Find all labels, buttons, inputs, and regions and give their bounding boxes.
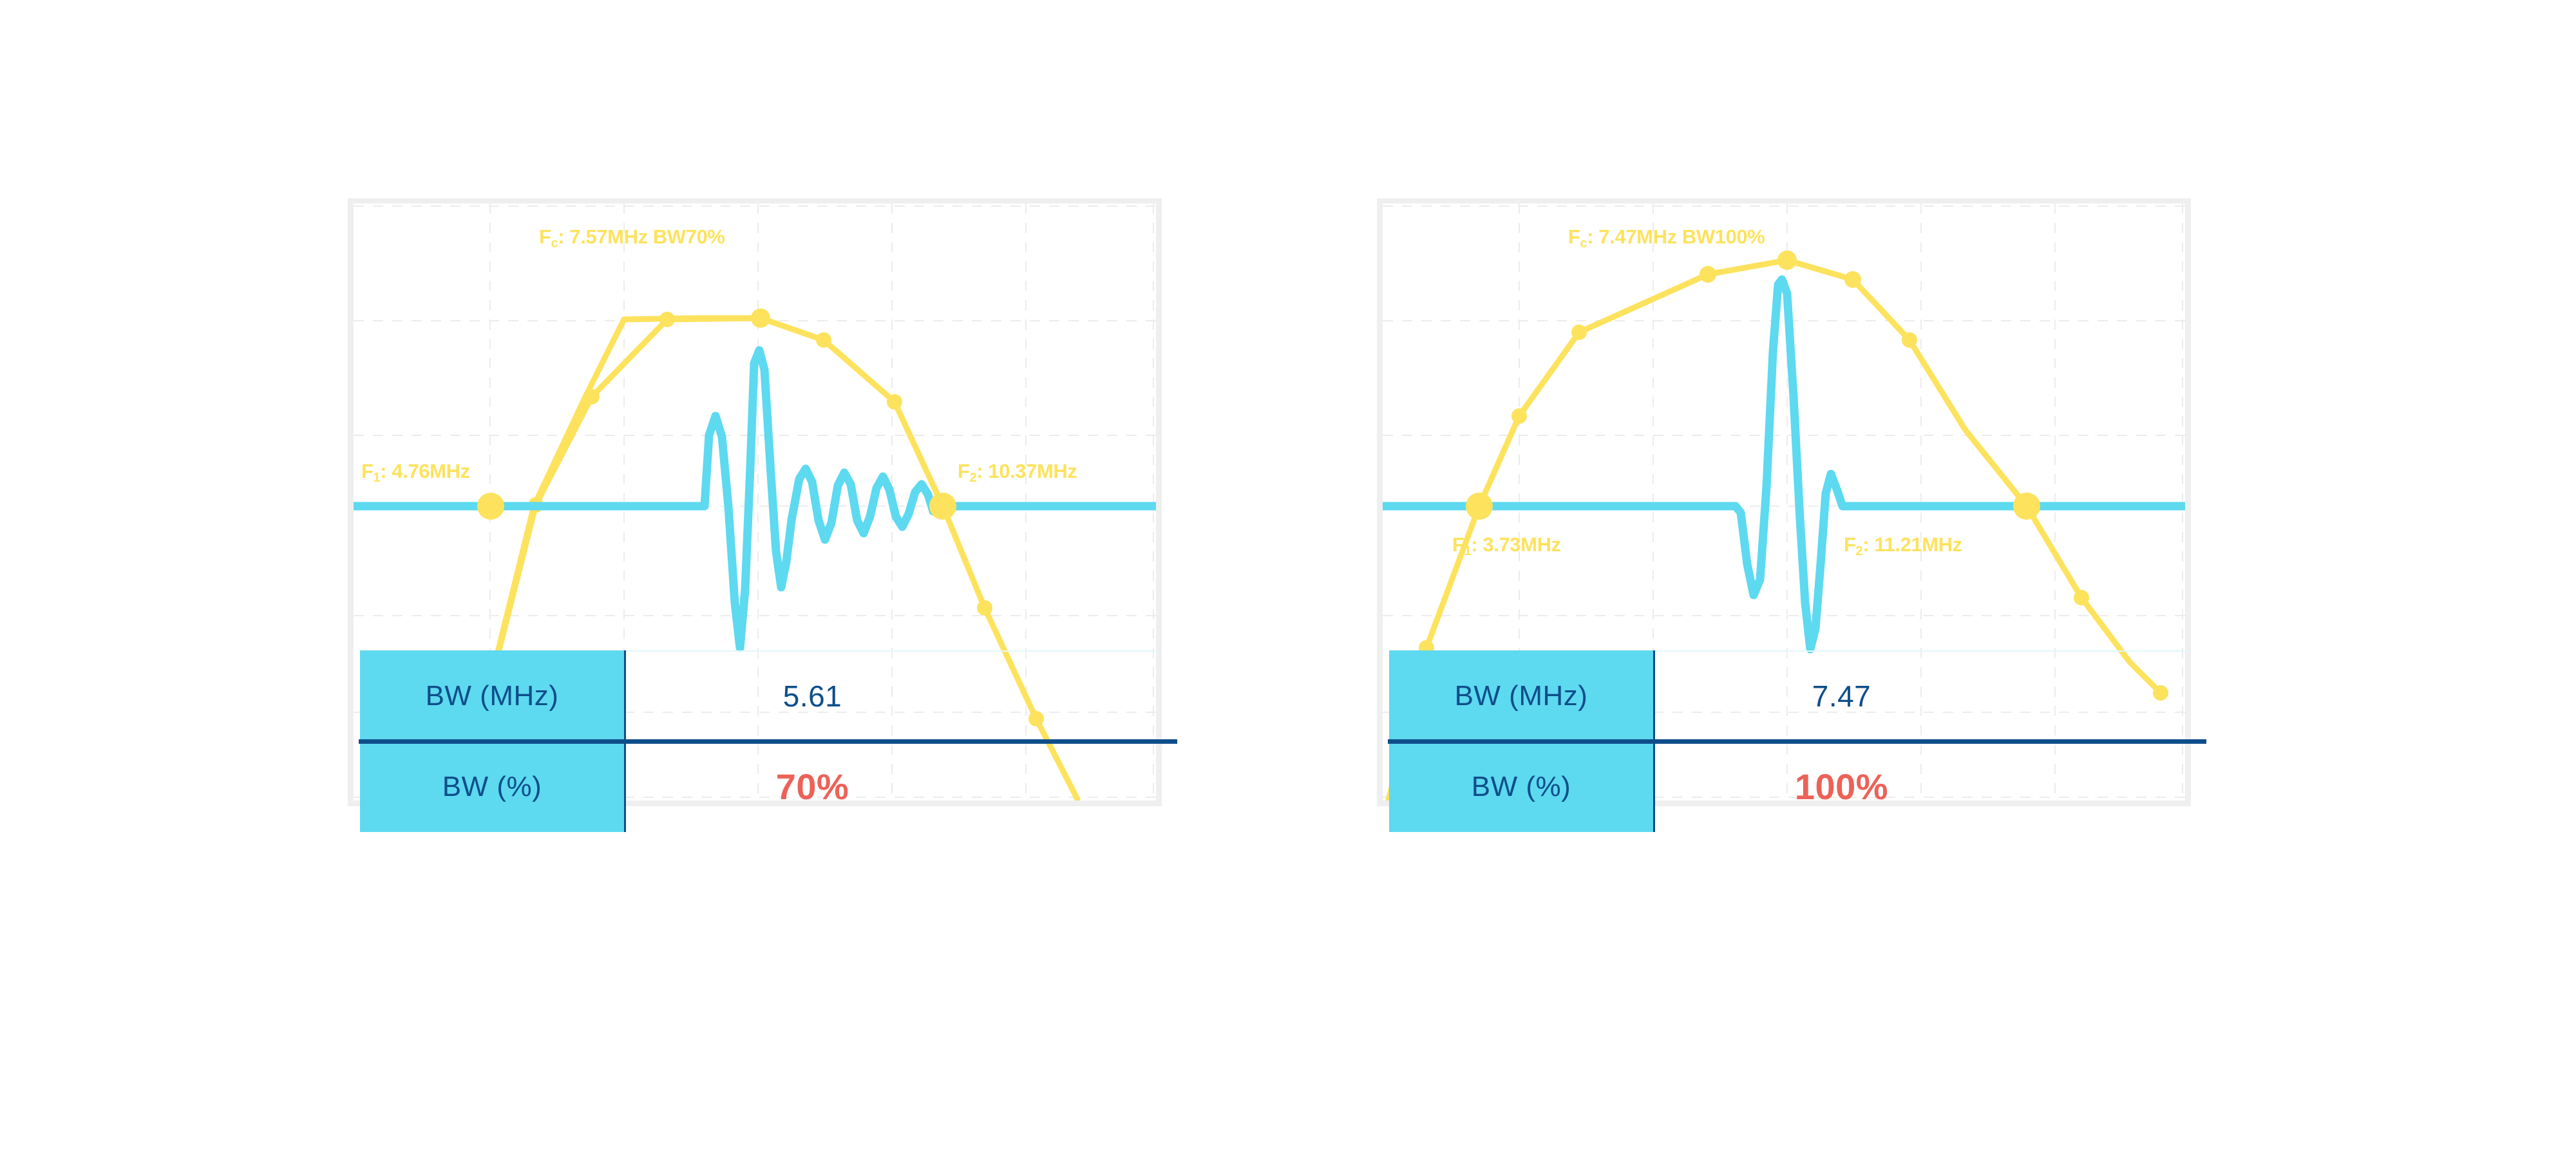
bw-pct-key-cell-left: BW (%)	[360, 741, 624, 832]
table-top-rule-right	[1653, 650, 2188, 652]
annotation-center-prefix-left: F	[539, 225, 551, 248]
bw-mhz-key-label-left: BW (MHz)	[426, 680, 559, 712]
bw-pct-key-label-left: BW (%)	[442, 771, 542, 803]
annotation-center-left: Fc: 7.57MHz BW70%	[539, 227, 725, 250]
bw-mhz-key-cell-left: BW (MHz)	[360, 650, 624, 741]
annotation-f2-left: F2: 10.37MHz	[958, 461, 1077, 484]
bw-mhz-key-label-right: BW (MHz)	[1455, 680, 1588, 712]
bw-pct-value-right: 100%	[1795, 766, 1888, 808]
annotation-f1-prefix-left: F	[361, 460, 374, 482]
table-row: BW (%) 100%	[1389, 741, 2188, 832]
bw-pct-value-left: 70%	[776, 766, 849, 808]
bw-mhz-key-cell-right: BW (MHz)	[1389, 650, 1653, 741]
table-row: BW (%) 70%	[360, 741, 1159, 832]
table-row-divider-left	[359, 739, 1177, 744]
annotation-center-text-right: : 7.47MHz BW100%	[1587, 225, 1765, 248]
panel-right: Fc: 7.47MHz BW100% F1: 3.73MHz F2: 11.21…	[1377, 0, 2214, 1154]
annotation-f1-prefix-right: F	[1452, 533, 1464, 556]
panel-left: Fc: 7.57MHz BW70% F1: 4.76MHz F2: 10.37M…	[348, 0, 1185, 1154]
impulse-response-right	[1383, 279, 2185, 649]
bw-pct-value-cell-left: 70%	[624, 741, 1159, 832]
figure-root: Fc: 7.57MHz BW70% F1: 4.76MHz F2: 10.37M…	[0, 0, 2576, 1154]
annotation-f2-prefix-left: F	[958, 460, 970, 482]
table-top-rule-left	[624, 650, 1159, 652]
annotation-f1-right: F1: 3.73MHz	[1452, 534, 1561, 558]
bw-pct-key-cell-right: BW (%)	[1389, 741, 1653, 832]
annotation-f2-sub-right: 2	[1856, 544, 1863, 558]
annotation-center-sub-left: c	[551, 236, 558, 251]
annotation-f2-prefix-right: F	[1844, 533, 1856, 556]
annotation-f2-text-right: : 11.21MHz	[1862, 533, 1962, 556]
annotation-f1-text-left: : 4.76MHz	[380, 460, 469, 482]
table-row: BW (MHz) 5.61	[360, 650, 1159, 741]
annotation-f2-sub-left: 2	[970, 471, 977, 485]
bw-pct-key-label-right: BW (%)	[1472, 771, 1571, 803]
annotation-f2-text-left: : 10.37MHz	[976, 460, 1077, 482]
bw-table-left: BW (MHz) 5.61 BW (%) 70%	[360, 650, 1159, 832]
annotation-f1-sub-left: 1	[374, 471, 381, 485]
bw-mhz-value-cell-right: 7.47	[1653, 650, 2188, 741]
annotation-f1-text-right: : 3.73MHz	[1471, 533, 1560, 556]
annotation-center-prefix-right: F	[1568, 225, 1580, 248]
annotation-f2-right: F2: 11.21MHz	[1844, 534, 1962, 558]
annotation-f1-sub-right: 1	[1464, 544, 1472, 558]
table-row-divider-right	[1388, 739, 2206, 744]
annotation-f1-left: F1: 4.76MHz	[361, 461, 470, 484]
bw-mhz-value-right: 7.47	[1812, 679, 1871, 714]
bw-mhz-value-cell-left: 5.61	[624, 650, 1159, 741]
impulse-response-left	[354, 350, 1156, 648]
bw-pct-value-cell-right: 100%	[1653, 741, 2188, 832]
annotation-center-right: Fc: 7.47MHz BW100%	[1568, 227, 1765, 250]
table-row: BW (MHz) 7.47	[1389, 650, 2188, 741]
bw-mhz-value-left: 5.61	[783, 679, 842, 714]
bw-table-right: BW (MHz) 7.47 BW (%) 100%	[1389, 650, 2188, 832]
annotation-center-sub-right: c	[1580, 236, 1587, 251]
annotation-center-text-left: : 7.57MHz BW70%	[558, 225, 724, 248]
